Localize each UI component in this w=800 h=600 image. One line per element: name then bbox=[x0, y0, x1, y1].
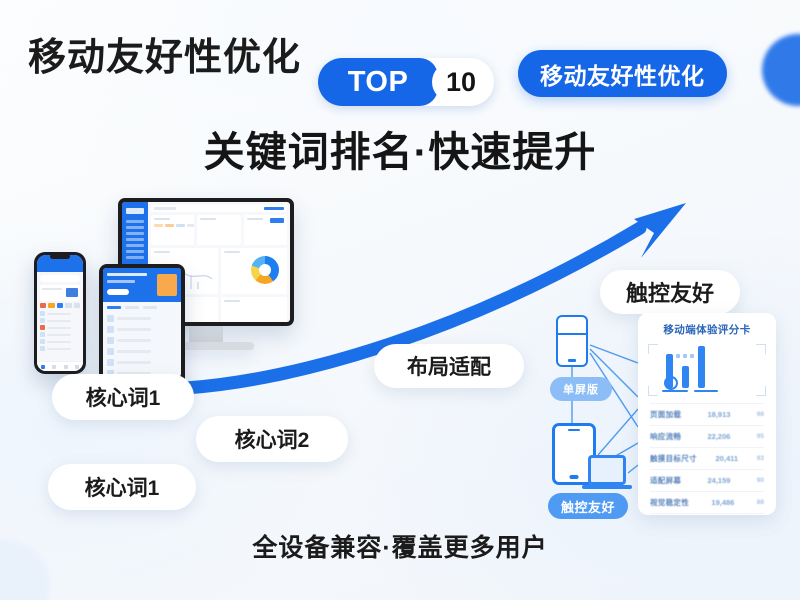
callout-layout-adaptation[interactable]: 布局适配 bbox=[374, 344, 524, 388]
tablet-list-item bbox=[103, 324, 181, 335]
tablet-list-item bbox=[103, 357, 181, 368]
row-value: 20,411 bbox=[716, 454, 739, 463]
scorecard-rows: 页面加载 18,913 98 响应流畅 22,206 95 触摸目标尺寸 20,… bbox=[638, 401, 776, 515]
phone-list-item bbox=[37, 310, 83, 317]
top-badge-blue-section: TOP bbox=[318, 58, 438, 106]
page-subtitle: 关键词排名·快速提升 bbox=[0, 118, 800, 178]
diagram-tag-top: 单屏版 bbox=[550, 377, 612, 401]
diagram-laptop-icon bbox=[588, 455, 626, 485]
mobile-experience-scorecard: 移动端体验评分卡 页面加载 18,913 98 bbox=[638, 313, 776, 515]
top-badge-number-chip: 10 bbox=[432, 62, 490, 102]
card-label bbox=[154, 218, 170, 220]
tablet-list-item bbox=[103, 346, 181, 357]
phone-icon-grid bbox=[37, 303, 83, 310]
phone-mockup bbox=[34, 252, 86, 374]
topbar-breadcrumb bbox=[154, 207, 176, 210]
dashboard-topbar bbox=[151, 205, 287, 212]
sidebar-item bbox=[126, 256, 144, 259]
phone-screen bbox=[37, 255, 83, 371]
row-name: 页面加载 bbox=[650, 409, 681, 420]
scorecard-row: 页面加载 18,913 98 bbox=[650, 403, 764, 425]
card-label bbox=[154, 251, 170, 253]
card-label bbox=[200, 218, 216, 220]
row-value: 24,159 bbox=[708, 476, 731, 485]
chart-bars bbox=[666, 346, 752, 388]
topbar-action bbox=[264, 207, 284, 210]
diagram-laptop-base bbox=[582, 485, 632, 489]
footer-caption: 全设备兼容·覆盖更多用户 bbox=[0, 528, 800, 564]
device-compatibility-diagram: 单屏版 触控友好 移动端体验评分卡 bbox=[542, 305, 782, 515]
row-name: 视觉稳定性 bbox=[650, 497, 689, 508]
tablet-tabs bbox=[103, 302, 181, 313]
scorecard-row: 视觉稳定性 19,486 88 bbox=[650, 491, 764, 513]
card-primary-button bbox=[270, 218, 284, 223]
phone-list-item bbox=[37, 338, 83, 345]
poster-canvas: 移动友好性优化 TOP 10 移动友好性优化 关键词排名·快速提升 bbox=[0, 0, 800, 600]
donut-chart bbox=[251, 256, 279, 284]
phone-banner-card bbox=[40, 285, 80, 301]
keyword-pill-2[interactable]: 核心词2 bbox=[196, 416, 348, 462]
keyword-pill-3[interactable]: 核心词1 bbox=[48, 464, 196, 510]
scorecard-chart bbox=[648, 344, 766, 396]
monitor-stand-neck bbox=[189, 326, 223, 342]
dashboard-card bbox=[244, 215, 287, 245]
keyword-pill-1-label: 核心词1 bbox=[86, 382, 161, 412]
chart-baseline bbox=[662, 390, 688, 392]
top-badge-label: TOP bbox=[348, 66, 409, 99]
hero-cta-button bbox=[107, 289, 129, 295]
diagram-tag-top-label: 单屏版 bbox=[563, 381, 599, 397]
sidebar-item bbox=[126, 244, 144, 247]
scorecard-row: 响应流畅 22,206 95 bbox=[650, 425, 764, 447]
chart-corner-bracket bbox=[756, 386, 766, 396]
row-value: 22,206 bbox=[708, 432, 731, 441]
tablet-list-item bbox=[103, 335, 181, 346]
area-chart bbox=[224, 316, 284, 322]
area-chart-card-right bbox=[221, 297, 288, 322]
decorative-blob-top-right bbox=[762, 34, 800, 106]
row-name: 触摸目标尺寸 bbox=[650, 453, 697, 464]
row-percent: 93 bbox=[757, 455, 764, 462]
keyword-pill-2-label: 核心词2 bbox=[235, 424, 310, 454]
row-percent: 90 bbox=[757, 477, 764, 484]
callout-touch-label: 触控友好 bbox=[626, 276, 714, 308]
phone-list-item bbox=[37, 345, 83, 352]
scorecard-title: 移动端体验评分卡 bbox=[638, 313, 776, 337]
row-value: 19,486 bbox=[711, 498, 734, 507]
hero-image bbox=[157, 274, 177, 296]
donut-chart-card bbox=[221, 248, 288, 294]
sidebar-item bbox=[126, 238, 144, 241]
sidebar-item bbox=[126, 250, 144, 253]
page-title: 移动友好性优化 bbox=[28, 26, 301, 81]
hero-title-line bbox=[107, 273, 147, 276]
dashboard-card bbox=[151, 215, 194, 245]
phone-list-item bbox=[37, 324, 83, 331]
top-badge-number: 10 bbox=[446, 67, 476, 98]
dashboard-card bbox=[197, 215, 240, 245]
phone-home-indicator bbox=[50, 371, 70, 373]
row-value: 18,913 bbox=[708, 410, 731, 419]
row-percent: 95 bbox=[757, 433, 764, 440]
tablet-mockup bbox=[99, 264, 185, 386]
scorecard-row: 触摸目标尺寸 20,411 93 bbox=[650, 447, 764, 469]
chart-baseline bbox=[694, 390, 718, 392]
phone-notch bbox=[50, 254, 70, 259]
row-name: 适配屏幕 bbox=[650, 475, 681, 486]
callout-layout-label: 布局适配 bbox=[407, 351, 491, 381]
top-rank-badge: TOP 10 bbox=[318, 58, 494, 106]
phone-list-item bbox=[37, 331, 83, 338]
phone-search-bar bbox=[40, 275, 80, 282]
phone-tab-bar bbox=[37, 361, 83, 371]
sidebar-item bbox=[126, 232, 144, 235]
scorecard-row: 适配屏幕 24,159 90 bbox=[650, 469, 764, 491]
card-label bbox=[247, 218, 263, 220]
row-name: 响应流畅 bbox=[650, 431, 681, 442]
keyword-pill-1[interactable]: 核心词1 bbox=[52, 374, 194, 420]
diagram-small-phone-icon bbox=[556, 315, 588, 367]
sidebar-item bbox=[126, 220, 144, 223]
chart-corner-bracket bbox=[648, 386, 658, 396]
card-chips bbox=[154, 224, 194, 227]
hero-subtitle-line bbox=[107, 280, 135, 283]
tablet-screen bbox=[103, 268, 181, 377]
sidebar-item bbox=[126, 226, 144, 229]
tablet-hero-banner bbox=[103, 268, 181, 302]
row-percent: 98 bbox=[757, 411, 764, 418]
diagram-tag-bottom: 触控友好 bbox=[548, 493, 628, 519]
phone-list-item bbox=[37, 317, 83, 324]
tablet-list-item bbox=[103, 313, 181, 324]
keyword-pill-3-label: 核心词1 bbox=[85, 472, 160, 502]
chart-corner-bracket bbox=[648, 344, 658, 354]
diagram-tag-bottom-label: 触控友好 bbox=[561, 497, 615, 516]
chart-corner-bracket bbox=[756, 344, 766, 354]
scorecard-row: 交互响应时间 17,849 85 bbox=[650, 513, 764, 515]
dashboard-card-row bbox=[151, 215, 287, 245]
header-blue-pill-label: 移动友好性优化 bbox=[540, 57, 705, 91]
card-label bbox=[224, 251, 240, 253]
dashboard-logo bbox=[126, 208, 144, 214]
header-blue-pill: 移动友好性优化 bbox=[518, 50, 727, 97]
row-percent: 88 bbox=[757, 499, 764, 506]
card-label bbox=[224, 300, 240, 302]
